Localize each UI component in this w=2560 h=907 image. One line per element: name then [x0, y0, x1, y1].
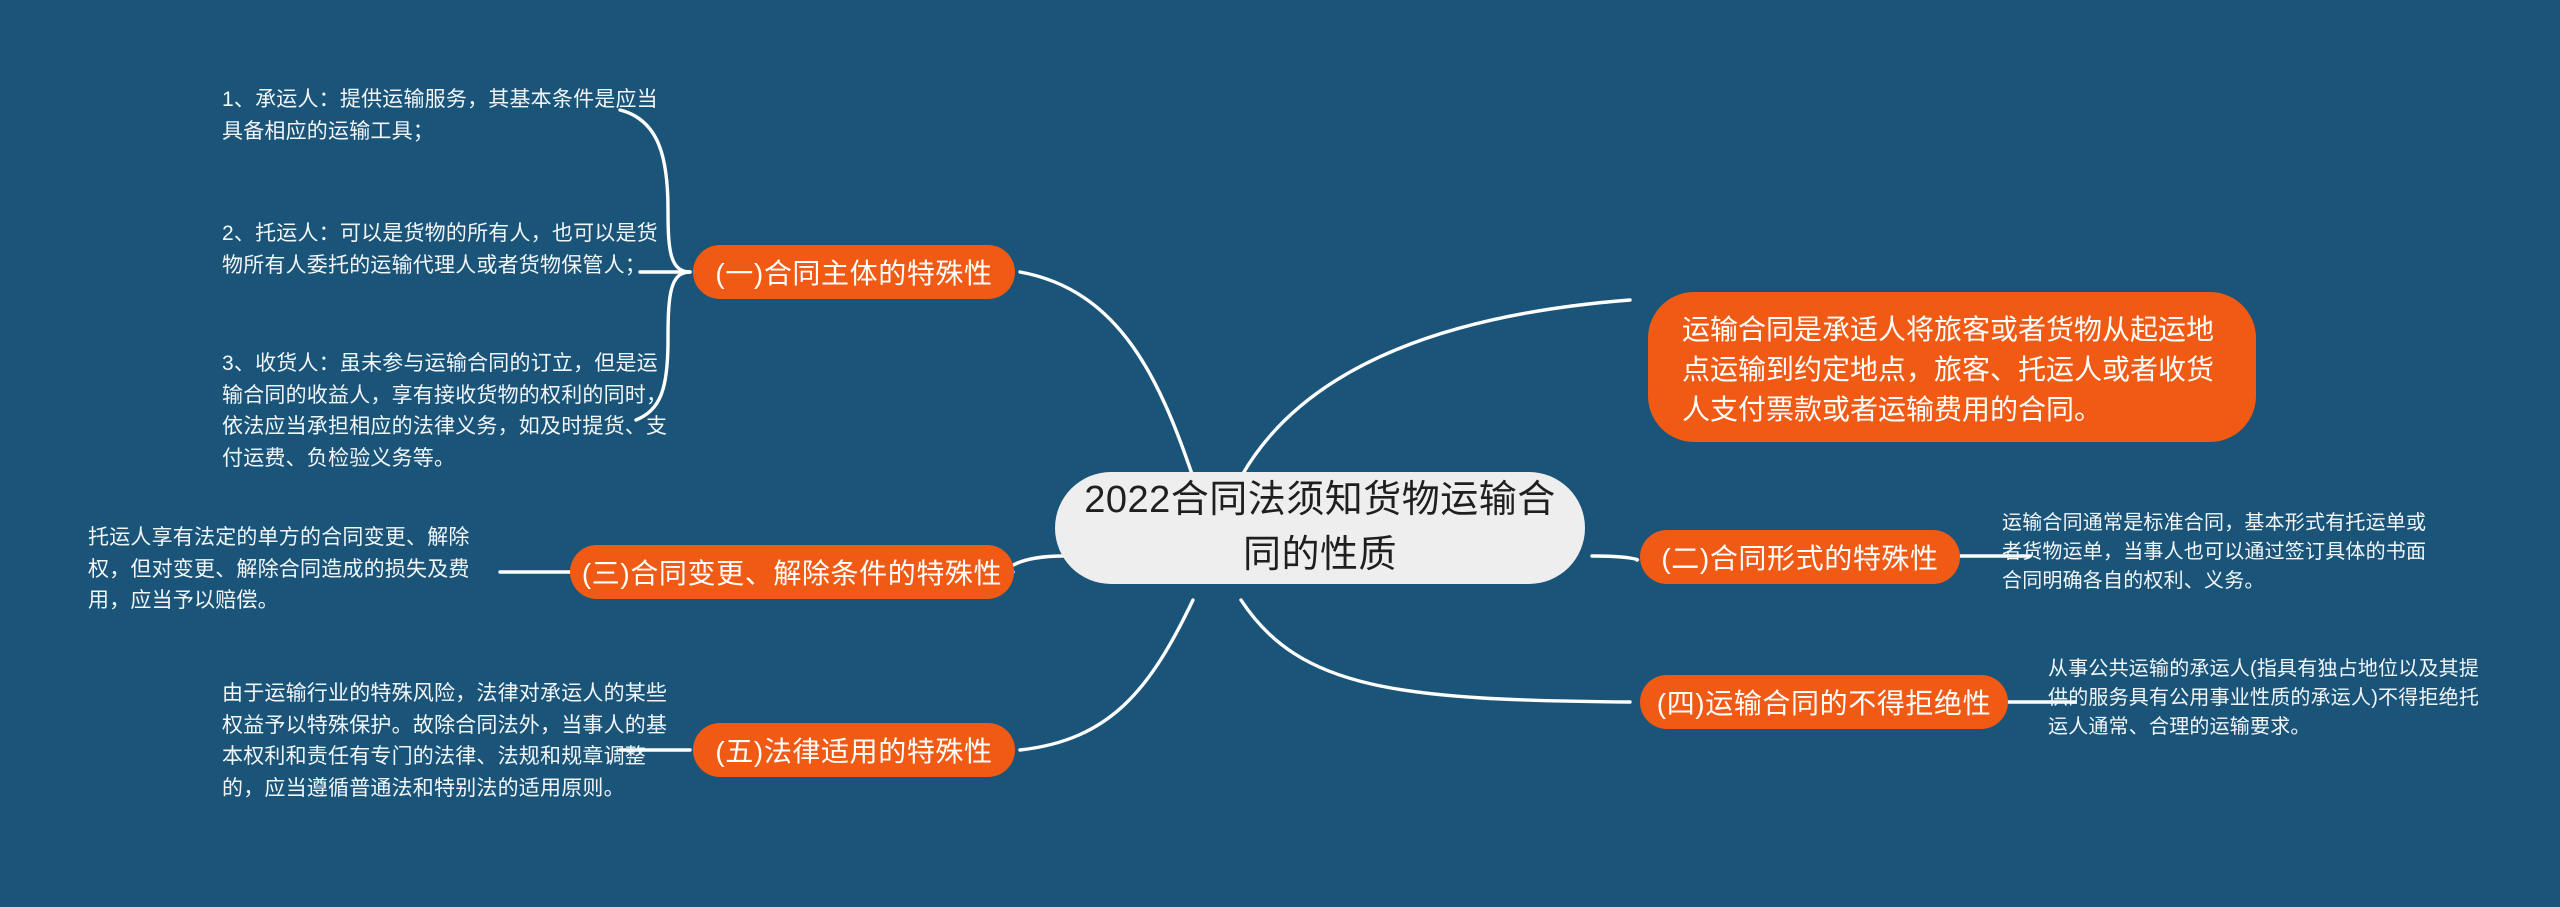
branch-node-3[interactable]: (三)合同变更、解除条件的特殊性: [570, 545, 1014, 599]
link-center-to-branch-1: [1020, 272, 1193, 477]
mindmap-canvas: 2022合同法须知货物运输合同的性质 运输合同是承适人将旅客或者货物从起运地点运…: [0, 0, 2560, 907]
branch-node-1[interactable]: (一)合同主体的特殊性: [693, 245, 1015, 299]
leaf-text-1-1: 1、承运人：提供运输服务，其基本条件是应当具备相应的运输工具；: [222, 84, 672, 147]
link-center-to-branch-2: [1592, 556, 1637, 560]
leaf-text-1-3: 3、收货人：虽未参与运输合同的订立，但是运输合同的收益人，享有接收货物的权利的同…: [222, 348, 672, 474]
definition-text: 运输合同是承适人将旅客或者货物从起运地点运输到约定地点，旅客、托运人或者收货人支…: [1682, 314, 2214, 425]
branch-node-3-label: (三)合同变更、解除条件的特殊性: [582, 552, 1002, 592]
branch-node-5[interactable]: (五)法律适用的特殊性: [693, 723, 1015, 777]
link-center-to-branch-4: [1241, 600, 1630, 702]
branch-node-5-label: (五)法律适用的特殊性: [715, 730, 992, 770]
center-node[interactable]: 2022合同法须知货物运输合同的性质: [1055, 472, 1585, 584]
link-center-to-branch-5: [1020, 600, 1193, 750]
leaf-text-4-1: 从事公共运输的承运人(指具有独占地位以及其提供的服务具有公用事业性质的承运人)不…: [2048, 655, 2492, 743]
leaf-text-3-1: 托运人享有法定的单方的合同变更、解除权，但对变更、解除合同造成的损失及费用，应当…: [88, 522, 500, 617]
center-node-title: 2022合同法须知货物运输合同的性质: [1081, 473, 1559, 583]
branch-node-4-label: (四)运输合同的不得拒绝性: [1657, 682, 1991, 722]
leaf-text-5-1: 由于运输行业的特殊风险，法律对承运人的某些权益予以特殊保护。故除合同法外，当事人…: [222, 678, 672, 804]
branch-node-4[interactable]: (四)运输合同的不得拒绝性: [1640, 675, 2008, 729]
branch-node-2-label: (二)合同形式的特殊性: [1661, 537, 1938, 577]
branch-node-1-label: (一)合同主体的特殊性: [715, 252, 992, 292]
leaf-text-2-1: 运输合同通常是标准合同，基本形式有托运单或者货物运单，当事人也可以通过签订具体的…: [2002, 509, 2446, 597]
link-center-to-branch-3: [1009, 556, 1063, 572]
definition-box[interactable]: 运输合同是承适人将旅客或者货物从起运地点运输到约定地点，旅客、托运人或者收货人支…: [1648, 292, 2256, 442]
branch-node-2[interactable]: (二)合同形式的特殊性: [1640, 530, 1960, 584]
link-center-to-definition: [1241, 300, 1630, 477]
leaf-text-1-2: 2、托运人：可以是货物的所有人，也可以是货物所有人委托的运输代理人或者货物保管人…: [222, 218, 672, 281]
